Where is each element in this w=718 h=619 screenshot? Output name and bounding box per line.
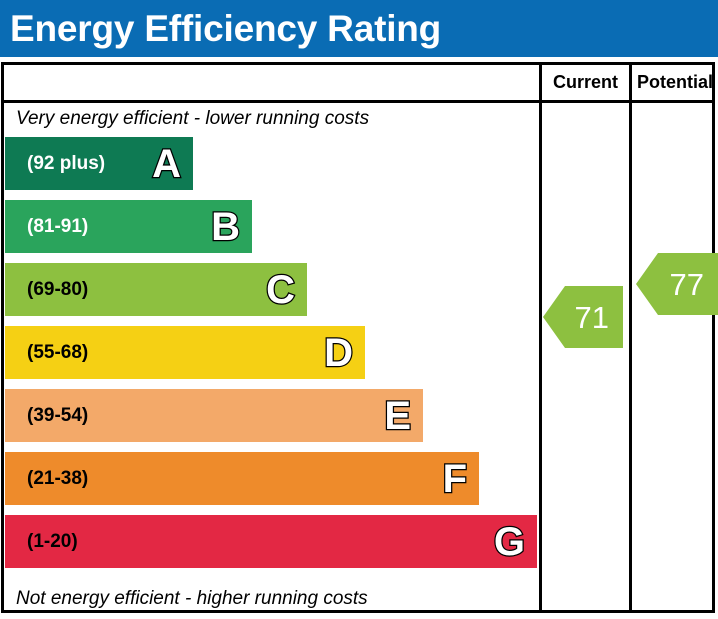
rating-band-f: (21-38)F [5, 452, 479, 505]
rating-band-c: (69-80)C [5, 263, 307, 316]
potential-rating-value: 77 [670, 269, 704, 300]
band-letter-f: F [443, 459, 467, 499]
band-letter-d: D [324, 333, 353, 373]
band-range-a: (92 plus) [27, 153, 105, 175]
band-range-c: (69-80) [27, 279, 88, 301]
rating-bands: (92 plus)A(81-91)B(69-80)C(55-68)D(39-54… [0, 0, 539, 619]
band-letter-e: E [384, 396, 411, 436]
current-rating-value: 71 [575, 302, 609, 333]
band-letter-c: C [266, 270, 295, 310]
band-letter-g: G [494, 522, 525, 562]
column-divider-current [539, 62, 542, 613]
column-header-potential: Potential [632, 68, 718, 96]
band-range-e: (39-54) [27, 405, 88, 427]
rating-band-e: (39-54)E [5, 389, 423, 442]
rating-band-b: (81-91)B [5, 200, 252, 253]
column-divider-potential [629, 62, 632, 613]
rating-band-a: (92 plus)A [5, 137, 193, 190]
energy-efficiency-rating-chart: Energy Efficiency Rating Current Potenti… [0, 0, 718, 619]
band-range-b: (81-91) [27, 216, 88, 238]
band-range-g: (1-20) [27, 531, 78, 553]
band-range-d: (55-68) [27, 342, 88, 364]
column-header-current: Current [542, 68, 629, 96]
band-letter-a: A [152, 144, 181, 184]
rating-band-d: (55-68)D [5, 326, 365, 379]
rating-band-g: (1-20)G [5, 515, 537, 568]
band-range-f: (21-38) [27, 468, 88, 490]
band-letter-b: B [211, 207, 240, 247]
